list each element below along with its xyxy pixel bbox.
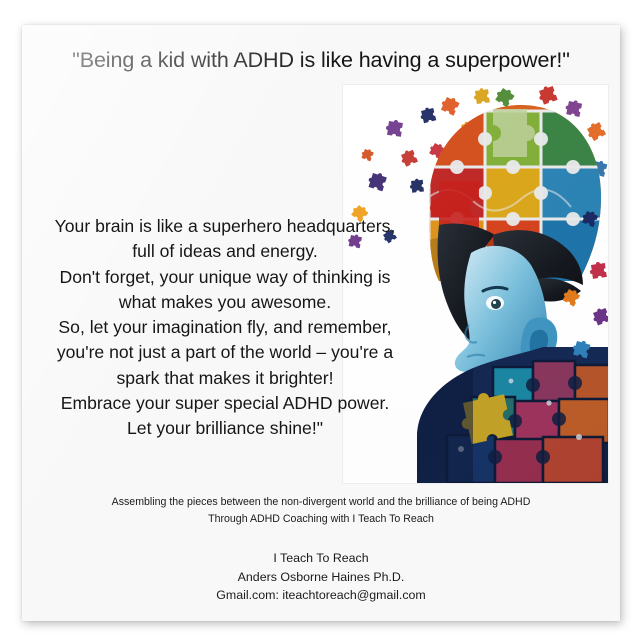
quote-line: Your brain is like a superhero headquart… bbox=[30, 214, 420, 239]
tagline-line: Through ADHD Coaching with I Teach To Re… bbox=[22, 511, 620, 528]
quote-line: what makes you awesome. bbox=[30, 290, 420, 315]
tagline-line: Assembling the pieces between the non-di… bbox=[22, 494, 620, 511]
quote-line: spark that makes it brighter! bbox=[30, 366, 420, 391]
poster-card: "Being a kid with ADHD is like having a … bbox=[22, 25, 620, 621]
signature-name: Anders Osborne Haines Ph.D. bbox=[22, 568, 620, 587]
poster-title: "Being a kid with ADHD is like having a … bbox=[22, 48, 620, 73]
quote-line: Let your brilliance shine!" bbox=[30, 416, 420, 441]
poster-quote-text: Your brain is like a superhero headquart… bbox=[30, 214, 420, 442]
poster-tagline: Assembling the pieces between the non-di… bbox=[22, 494, 620, 528]
poster-canvas: "Being a kid with ADHD is like having a … bbox=[0, 0, 644, 644]
poster-signature: I Teach To Reach Anders Osborne Haines P… bbox=[22, 549, 620, 605]
quote-line: So, let your imagination fly, and rememb… bbox=[30, 315, 420, 340]
quote-line: full of ideas and energy. bbox=[30, 239, 420, 264]
signature-brand: I Teach To Reach bbox=[22, 549, 620, 568]
signature-email: Gmail.com: iteachtoreach@gmail.com bbox=[22, 586, 620, 605]
quote-line: Don't forget, your unique way of thinkin… bbox=[30, 265, 420, 290]
quote-line: Embrace your super special ADHD power. bbox=[30, 391, 420, 416]
quote-line: you're not just a part of the world – yo… bbox=[30, 340, 420, 365]
